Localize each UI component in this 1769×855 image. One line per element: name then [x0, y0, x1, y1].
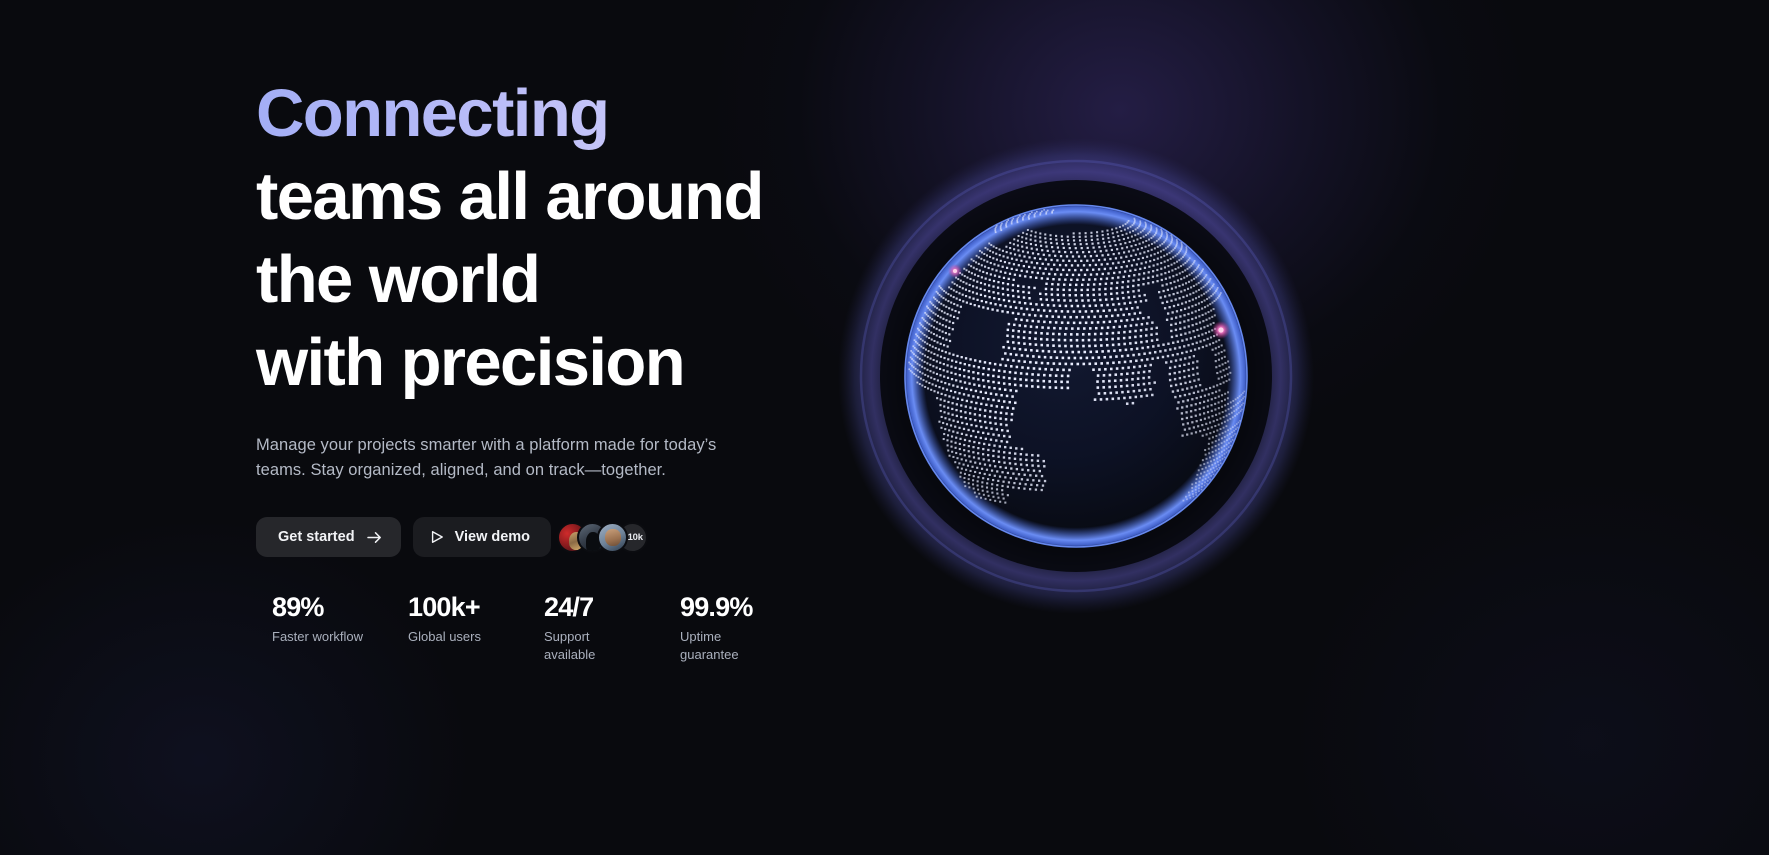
stats-row: 89% Faster workflow 100k+ Global users 2…: [272, 591, 816, 664]
stat-item: 24/7 Support available: [544, 591, 680, 664]
user-avatar-group[interactable]: +10k: [557, 522, 648, 553]
stat-item: 99.9% Uptime guarantee: [680, 591, 816, 664]
headline-line-2: the world: [256, 238, 896, 321]
headline-accent-line: Connecting: [256, 72, 896, 155]
arrow-right-icon: [367, 531, 382, 544]
stat-value: 100k+: [408, 591, 544, 623]
stat-label: Support available: [544, 628, 640, 664]
get-started-label: Get started: [278, 529, 355, 545]
view-demo-button[interactable]: View demo: [413, 517, 551, 557]
page-title: Connecting teams all around the world wi…: [256, 72, 896, 404]
view-demo-label: View demo: [455, 529, 530, 545]
hero-subtitle: Manage your projects smarter with a plat…: [256, 433, 756, 483]
stat-value: 99.9%: [680, 591, 816, 623]
hero-section: Connecting teams all around the world wi…: [0, 0, 1769, 855]
stat-value: 89%: [272, 591, 408, 623]
stat-item: 89% Faster workflow: [272, 591, 408, 664]
hero-actions: Get started View demo: [256, 517, 896, 557]
get-started-button[interactable]: Get started: [256, 517, 401, 557]
headline-line-1: teams all around: [256, 155, 896, 238]
stat-value: 24/7: [544, 591, 680, 623]
hero-content: Connecting teams all around the world wi…: [256, 72, 896, 557]
marker-dot-1: [1218, 327, 1223, 332]
stat-label: Global users: [408, 628, 504, 646]
marker-dot-2: [953, 269, 957, 273]
avatar: [597, 522, 628, 553]
stat-label: Uptime guarantee: [680, 628, 776, 664]
stat-item: 100k+ Global users: [408, 591, 544, 664]
world-globe-visualization: [836, 136, 1316, 616]
play-icon: [431, 530, 444, 544]
headline-line-3: with precision: [256, 321, 896, 404]
stat-label: Faster workflow: [272, 628, 368, 646]
